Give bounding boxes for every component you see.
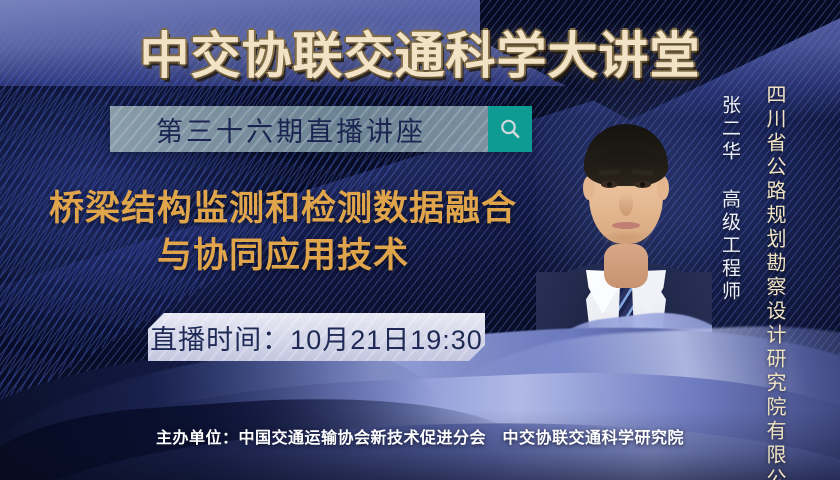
search-button[interactable] (488, 106, 532, 152)
session-label: 第三十六期直播讲座 (110, 106, 488, 152)
speaker-name-title: 张二华 高级工程师 (716, 95, 743, 304)
speaker-organization: 四川省公路规划勘察设计研究院有限公司 (760, 84, 789, 480)
portrait-pupil-right (640, 182, 645, 187)
portrait-mouth (612, 222, 640, 229)
page-title: 中交协联交通科学大讲堂 (0, 16, 840, 88)
topic-title: 桥梁结构监测和检测数据融合 与协同应用技术 (18, 186, 548, 279)
speaker-portrait (536, 66, 712, 396)
portrait-pupil-left (607, 182, 612, 187)
webinar-poster: 中交协联交通科学大讲堂 第三十六期直播讲座 桥梁结构监测和检测数据融合 与协同应… (0, 0, 840, 480)
portrait-chin-shadow (598, 230, 654, 246)
session-bar[interactable]: 第三十六期直播讲座 (110, 106, 532, 152)
topic-line-1: 桥梁结构监测和检测数据融合 (18, 186, 548, 233)
portrait-neck (604, 244, 648, 288)
portrait-nose (619, 192, 633, 216)
organizers-footer: 主办单位：中国交通运输协会新技术促进分会 中交协联交通科学研究院 (0, 424, 840, 448)
search-icon (498, 117, 522, 141)
broadcast-time-text: 直播时间：10月21日19:30 (150, 318, 483, 357)
broadcast-time-pill: 直播时间：10月21日19:30 (148, 313, 485, 361)
topic-line-2: 与协同应用技术 (18, 233, 548, 280)
